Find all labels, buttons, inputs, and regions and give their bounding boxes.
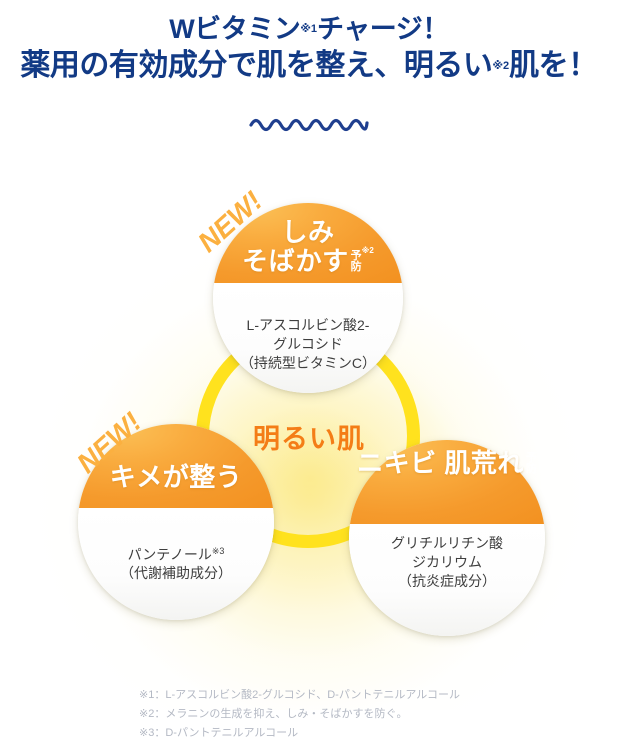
ingredient-line-3: （持続型ビタミンC） — [213, 354, 403, 373]
circle-title-row-1: しみ — [281, 218, 334, 247]
circle-title-row-2: そばかす 予 ※2 防 — [242, 247, 374, 276]
footnote-item-1: ※1：L-アスコルビン酸2-グルコシド、D-パントテニルアルコール — [139, 686, 559, 705]
footnote-list: ※1：L-アスコルビン酸2-グルコシド、D-パントテニルアルコール ※2：メラニ… — [139, 686, 559, 743]
footnote-item-3: ※3：D-パントテニルアルコール — [139, 724, 559, 743]
headline-line-2: 薬用の有効成分で肌を整え、明るい※2肌を！ — [0, 47, 618, 85]
headline-line-2-footnote-marker: ※2 — [492, 60, 509, 72]
circle-title-line-2: 肌荒れ — [444, 449, 524, 478]
circle-title-line-1: しみ — [281, 218, 334, 247]
circle-title-row-1: キメが整う — [110, 463, 243, 492]
circle-ingredient-acne-rough-skin: グリチルリチン酸 ジカリウム （抗炎症成分） — [349, 534, 545, 590]
ingredient-line-1-wrap: パンテノール※3 — [78, 545, 274, 564]
footnote-item-2: ※2：メラニンの生成を抑え、しみ・そばかすを防ぐ。 — [139, 705, 559, 724]
headline-line-1: Wビタミン※1チャージ！ — [0, 12, 618, 47]
page-headline: Wビタミン※1チャージ！ 薬用の有効成分で肌を整え、明るい※2肌を！ — [0, 12, 618, 85]
headline-line-1-footnote-marker: ※1 — [300, 23, 317, 35]
ingredient-line-1: パンテノール — [128, 547, 212, 563]
circle-title-row-1: ニキビ — [357, 449, 437, 478]
ingredient-line-2: （代謝補助成分） — [78, 564, 274, 583]
headline-line-1-text-b: チャージ！ — [317, 14, 449, 44]
circle-title-texture: キメが整う — [78, 463, 274, 492]
ingredient-line-3: （抗炎症成分） — [349, 572, 545, 591]
ingredient-line-1: L-アスコルビン酸2- — [213, 316, 403, 335]
ingredient-footnote-marker: ※3 — [212, 546, 225, 556]
prevention-suffix-stack: 予 ※2 防 — [351, 251, 374, 276]
wavy-line-divider-icon — [249, 112, 369, 134]
prevention-suffix-stack: 予 防 — [526, 453, 537, 478]
prevention-suffix-char-2: 防 — [526, 464, 537, 475]
prevention-suffix-char-2: 防 — [351, 262, 362, 273]
headline-line-1-text-a: Wビタミン — [169, 14, 300, 44]
circle-title-row-2: 肌荒れ 予 防 — [444, 449, 537, 478]
infographic-page: Wビタミン※1チャージ！ 薬用の有効成分で肌を整え、明るい※2肌を！ 明るい肌 … — [0, 0, 618, 743]
circle-title-line-2: そばかす — [242, 247, 349, 276]
prevention-footnote-marker: ※2 — [362, 247, 374, 255]
circle-ingredient-texture: パンテノール※3 （代謝補助成分） — [78, 545, 274, 583]
headline-line-2-text-b: 肌を！ — [509, 49, 598, 82]
ingredient-line-2: ジカリウム — [349, 553, 545, 572]
headline-line-2-text-a: 薬用の有効成分で肌を整え、明るい — [20, 49, 492, 82]
ingredient-line-1: グリチルリチン酸 — [349, 534, 545, 553]
circle-ingredient-spots-freckles: L-アスコルビン酸2- グルコシド （持続型ビタミンC） — [213, 316, 403, 372]
ingredient-line-2: グルコシド — [213, 335, 403, 354]
circle-title-line-1: キメが整う — [110, 463, 243, 492]
circle-title-acne-rough-skin: ニキビ 肌荒れ 予 防 — [349, 449, 545, 478]
circle-title-line-1: ニキビ — [357, 449, 437, 478]
